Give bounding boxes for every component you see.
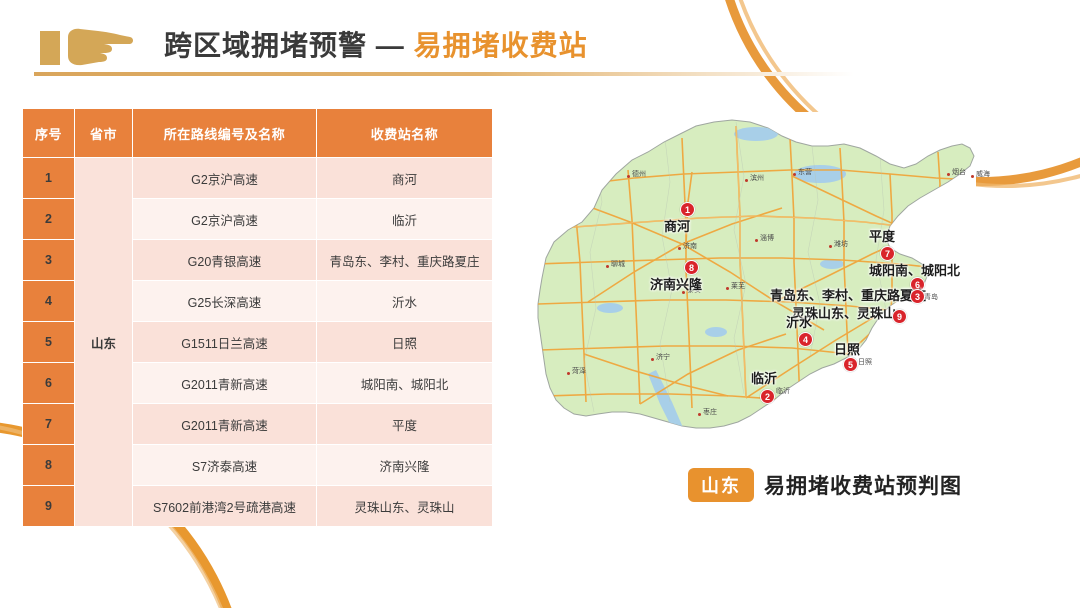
map-marker-label: 沂水 <box>786 312 812 331</box>
map-city-dot <box>745 179 748 182</box>
slide-root: 跨区域拥堵预警 — 易拥堵收费站 序号 省市 所在路线编号及名称 收费站名称 1… <box>0 0 1080 608</box>
cell-station: 沂水 <box>317 281 493 322</box>
cell-route: G2011青新高速 <box>133 404 317 445</box>
toll-station-table: 序号 省市 所在路线编号及名称 收费站名称 1山东G2京沪高速商河2G2京沪高速… <box>22 108 492 527</box>
map-city-label: 济宁 <box>656 352 670 362</box>
cell-station: 商河 <box>317 158 493 199</box>
map-marker-label: 商河 <box>664 216 690 235</box>
cell-route: G20青银高速 <box>133 240 317 281</box>
map-city-label: 莱芜 <box>731 281 745 291</box>
map-city-dot <box>627 175 630 178</box>
cell-route: S7济泰高速 <box>133 445 317 486</box>
map-city-dot <box>947 173 950 176</box>
map-caption: 山东 易拥堵收费站预判图 <box>688 468 962 502</box>
table-body: 1山东G2京沪高速商河2G2京沪高速临沂3G20青银高速青岛东、李村、重庆路夏庄… <box>23 158 493 527</box>
map-marker-label: 平度 <box>869 226 895 245</box>
map-city-label: 菏泽 <box>572 366 586 376</box>
map-city-dot <box>755 239 758 242</box>
map-city-label: 日照 <box>858 357 872 367</box>
cell-province: 山东 <box>75 158 133 527</box>
page-title: 跨区域拥堵预警 — 易拥堵收费站 <box>164 20 588 72</box>
cell-station: 济南兴隆 <box>317 445 493 486</box>
pointing-hand-icon <box>38 24 136 70</box>
cell-route: G2京沪高速 <box>133 158 317 199</box>
shandong-map: 德州滨州东营淄博济南潍坊聊城泰安莱芜青岛日照临沂济宁菏泽枣庄烟台威海 商河1济南… <box>524 112 976 460</box>
map-marker-label: 城阳南、城阳北 <box>869 260 960 279</box>
cell-station: 城阳南、城阳北 <box>317 363 493 404</box>
cell-route: G2京沪高速 <box>133 199 317 240</box>
cell-index: 1 <box>23 158 75 199</box>
map-marker-4[interactable]: 4 <box>798 332 813 347</box>
map-city-label: 济南 <box>683 241 697 251</box>
map-marker-3[interactable]: 3 <box>910 289 925 304</box>
map-city-dot <box>829 245 832 248</box>
map-marker-9[interactable]: 9 <box>892 309 907 324</box>
column-header-index: 序号 <box>23 109 75 158</box>
map-city-label: 威海 <box>976 169 990 179</box>
map-city-label: 临沂 <box>776 386 790 396</box>
table-header-row: 序号 省市 所在路线编号及名称 收费站名称 <box>23 109 493 158</box>
column-header-province: 省市 <box>75 109 133 158</box>
map-marker-2[interactable]: 2 <box>760 389 775 404</box>
cell-index: 2 <box>23 199 75 240</box>
map-city-label: 德州 <box>632 169 646 179</box>
cell-index: 3 <box>23 240 75 281</box>
column-header-station: 收费站名称 <box>317 109 493 158</box>
map-city-dot <box>971 175 974 178</box>
map-marker-5[interactable]: 5 <box>843 357 858 372</box>
cell-station: 平度 <box>317 404 493 445</box>
cell-index: 5 <box>23 322 75 363</box>
map-city-label: 枣庄 <box>703 407 717 417</box>
map-city-dot <box>606 265 609 268</box>
map-city-label: 东营 <box>798 167 812 177</box>
map-city-label: 青岛 <box>924 292 938 302</box>
page-header: 跨区域拥堵预警 — 易拥堵收费站 <box>38 16 858 78</box>
map-marker-label: 临沂 <box>751 368 777 387</box>
map-marker-label: 济南兴隆 <box>650 274 702 293</box>
cell-station: 临沂 <box>317 199 493 240</box>
map-city-label: 潍坊 <box>834 239 848 249</box>
caption-text: 易拥堵收费站预判图 <box>764 470 962 500</box>
map-city-label: 烟台 <box>952 167 966 177</box>
caption-province-badge: 山东 <box>688 468 754 502</box>
cell-index: 7 <box>23 404 75 445</box>
map-city-dot <box>726 287 729 290</box>
map-city-dot <box>793 173 796 176</box>
cell-route: S7602前港湾2号疏港高速 <box>133 486 317 527</box>
map-city-label: 聊城 <box>611 259 625 269</box>
cell-index: 8 <box>23 445 75 486</box>
cell-station: 灵珠山东、灵珠山 <box>317 486 493 527</box>
cell-station: 青岛东、李村、重庆路夏庄 <box>317 240 493 281</box>
cell-index: 9 <box>23 486 75 527</box>
map-city-dot <box>651 358 654 361</box>
map-marker-7[interactable]: 7 <box>880 246 895 261</box>
map-city-dot <box>678 247 681 250</box>
cell-route: G25长深高速 <box>133 281 317 322</box>
map-marker-label: 青岛东、李村、重庆路夏庄 <box>770 285 926 304</box>
cell-index: 6 <box>23 363 75 404</box>
map-city-dot <box>698 413 701 416</box>
cell-index: 4 <box>23 281 75 322</box>
cell-station: 日照 <box>317 322 493 363</box>
map-city-label: 淄博 <box>760 233 774 243</box>
map-marker-1[interactable]: 1 <box>680 202 695 217</box>
map-marker-label: 日照 <box>834 339 860 358</box>
page-title-accent: 易拥堵收费站 <box>414 30 588 61</box>
cell-route: G1511日兰高速 <box>133 322 317 363</box>
map-marker-8[interactable]: 8 <box>684 260 699 275</box>
map-city-label: 滨州 <box>750 173 764 183</box>
cell-route: G2011青新高速 <box>133 363 317 404</box>
map-city-dot <box>567 372 570 375</box>
column-header-route: 所在路线编号及名称 <box>133 109 317 158</box>
title-underline <box>34 72 854 76</box>
page-title-main: 跨区域拥堵预警 — <box>164 30 414 61</box>
table-row: 1山东G2京沪高速商河 <box>23 158 493 199</box>
